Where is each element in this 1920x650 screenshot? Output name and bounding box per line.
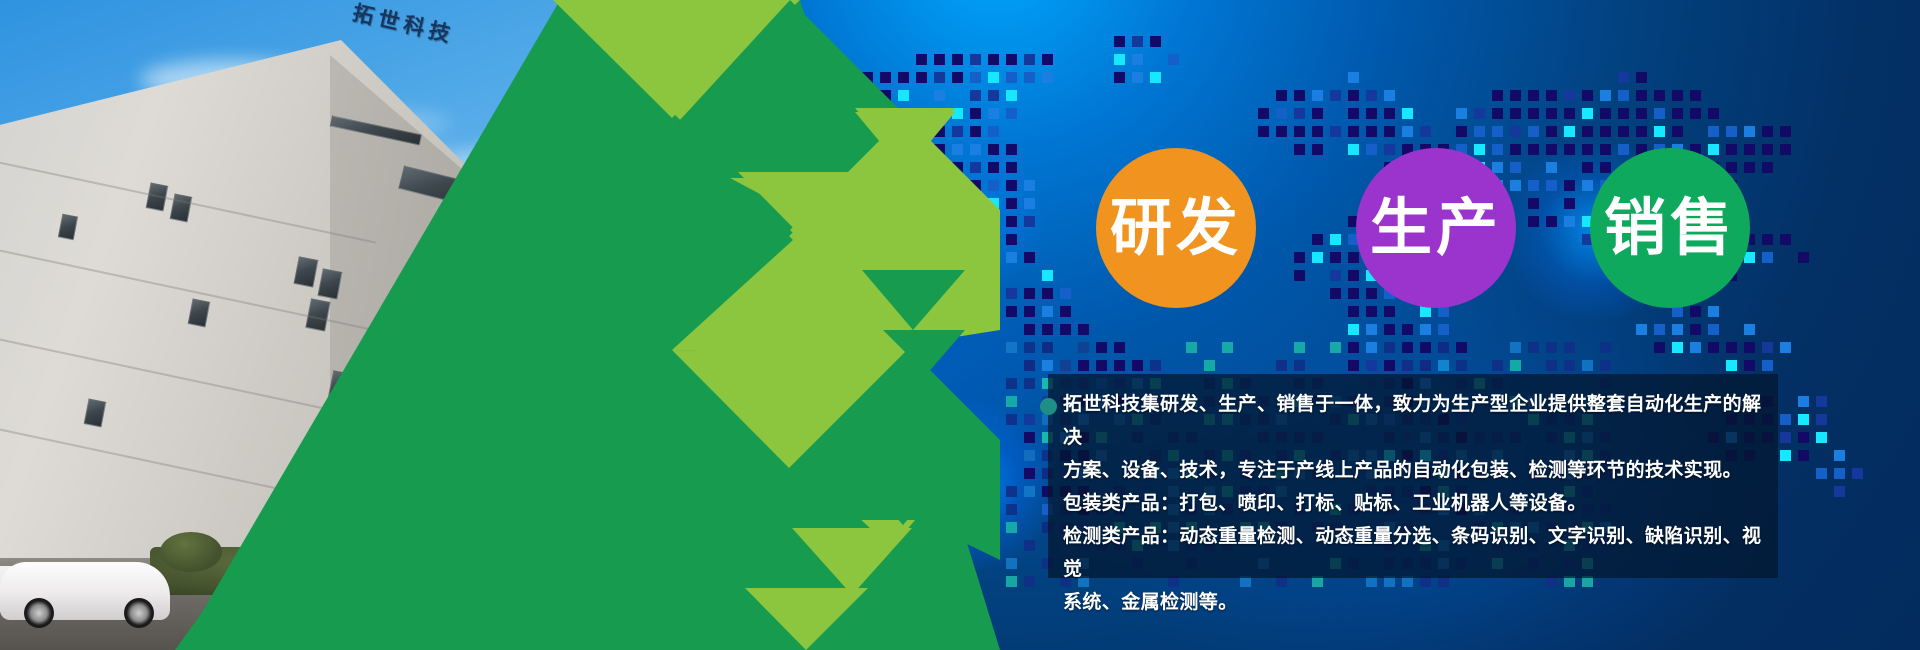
circle-badge-sales[interactable]: 销售: [1590, 148, 1750, 308]
company-hero-banner: 拓世科技: [0, 0, 1920, 650]
description-text: 拓世科技集研发、生产、销售于一体，致力为生产型企业提供整套自动化生产的解决 方案…: [1063, 388, 1769, 619]
description-line: 检测类产品：动态重量检测、动态重量分选、条码识别、文字识别、缺陷识别、视觉: [1063, 520, 1769, 586]
description-line: 包装类产品：打包、喷印、打标、贴标、工业机器人等设备。: [1063, 487, 1769, 520]
description-line: 方案、设备、技术，专注于产线上产品的自动化包装、检测等环节的技术实现。: [1063, 454, 1769, 487]
circle-badge-production[interactable]: 生产: [1356, 148, 1516, 308]
green-triangle-detail-layer: [0, 0, 1000, 650]
description-line: 拓世科技集研发、生产、销售于一体，致力为生产型企业提供整套自动化生产的解决: [1063, 388, 1769, 454]
circle-badge-rd[interactable]: 研发: [1096, 148, 1256, 308]
description-line: 系统、金属检测等。: [1063, 586, 1769, 619]
teal-dot-marker: [1040, 398, 1057, 415]
